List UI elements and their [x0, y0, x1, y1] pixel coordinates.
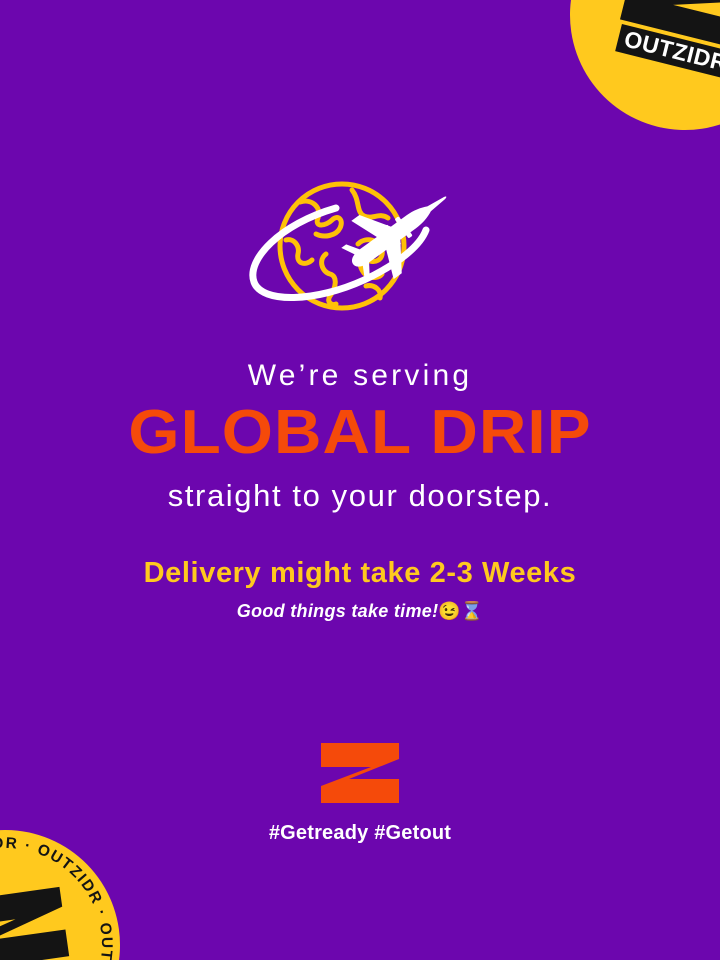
- reassurance-text: Good things take time!😉⌛: [0, 602, 720, 621]
- delivery-notice: Delivery might take 2-3 Weeks: [0, 558, 720, 588]
- hashtags-text: #Getready #Getout: [269, 822, 451, 845]
- badge-core: OUTZIDR: [0, 883, 85, 960]
- hero-illustration: [0, 168, 720, 344]
- reassurance-label: Good things take time!: [237, 601, 439, 621]
- globe-with-airplane-icon: [240, 168, 480, 344]
- footer-brand: #Getready #Getout: [0, 742, 720, 845]
- copy-block: We’re serving GLOBAL DRIP straight to yo…: [0, 360, 720, 621]
- outzidr-z-logo: [319, 742, 401, 804]
- outzidr-sticker-top-right: OUTZIDR · OUTZIDR · OUTZIDR · OUTZIDR · …: [546, 0, 720, 154]
- badge-z-icon: [0, 884, 73, 960]
- page-title: GLOBAL DRIP: [0, 402, 720, 464]
- subheadline-text: straight to your doorstep.: [0, 480, 720, 513]
- poster-canvas: OUTZIDR · OUTZIDR · OUTZIDR · OUTZIDR · …: [0, 0, 720, 960]
- eyebrow-text: We’re serving: [0, 360, 720, 392]
- badge-core: OUTZIDR: [602, 0, 720, 83]
- wink-hourglass-emoji: 😉⌛: [438, 601, 483, 621]
